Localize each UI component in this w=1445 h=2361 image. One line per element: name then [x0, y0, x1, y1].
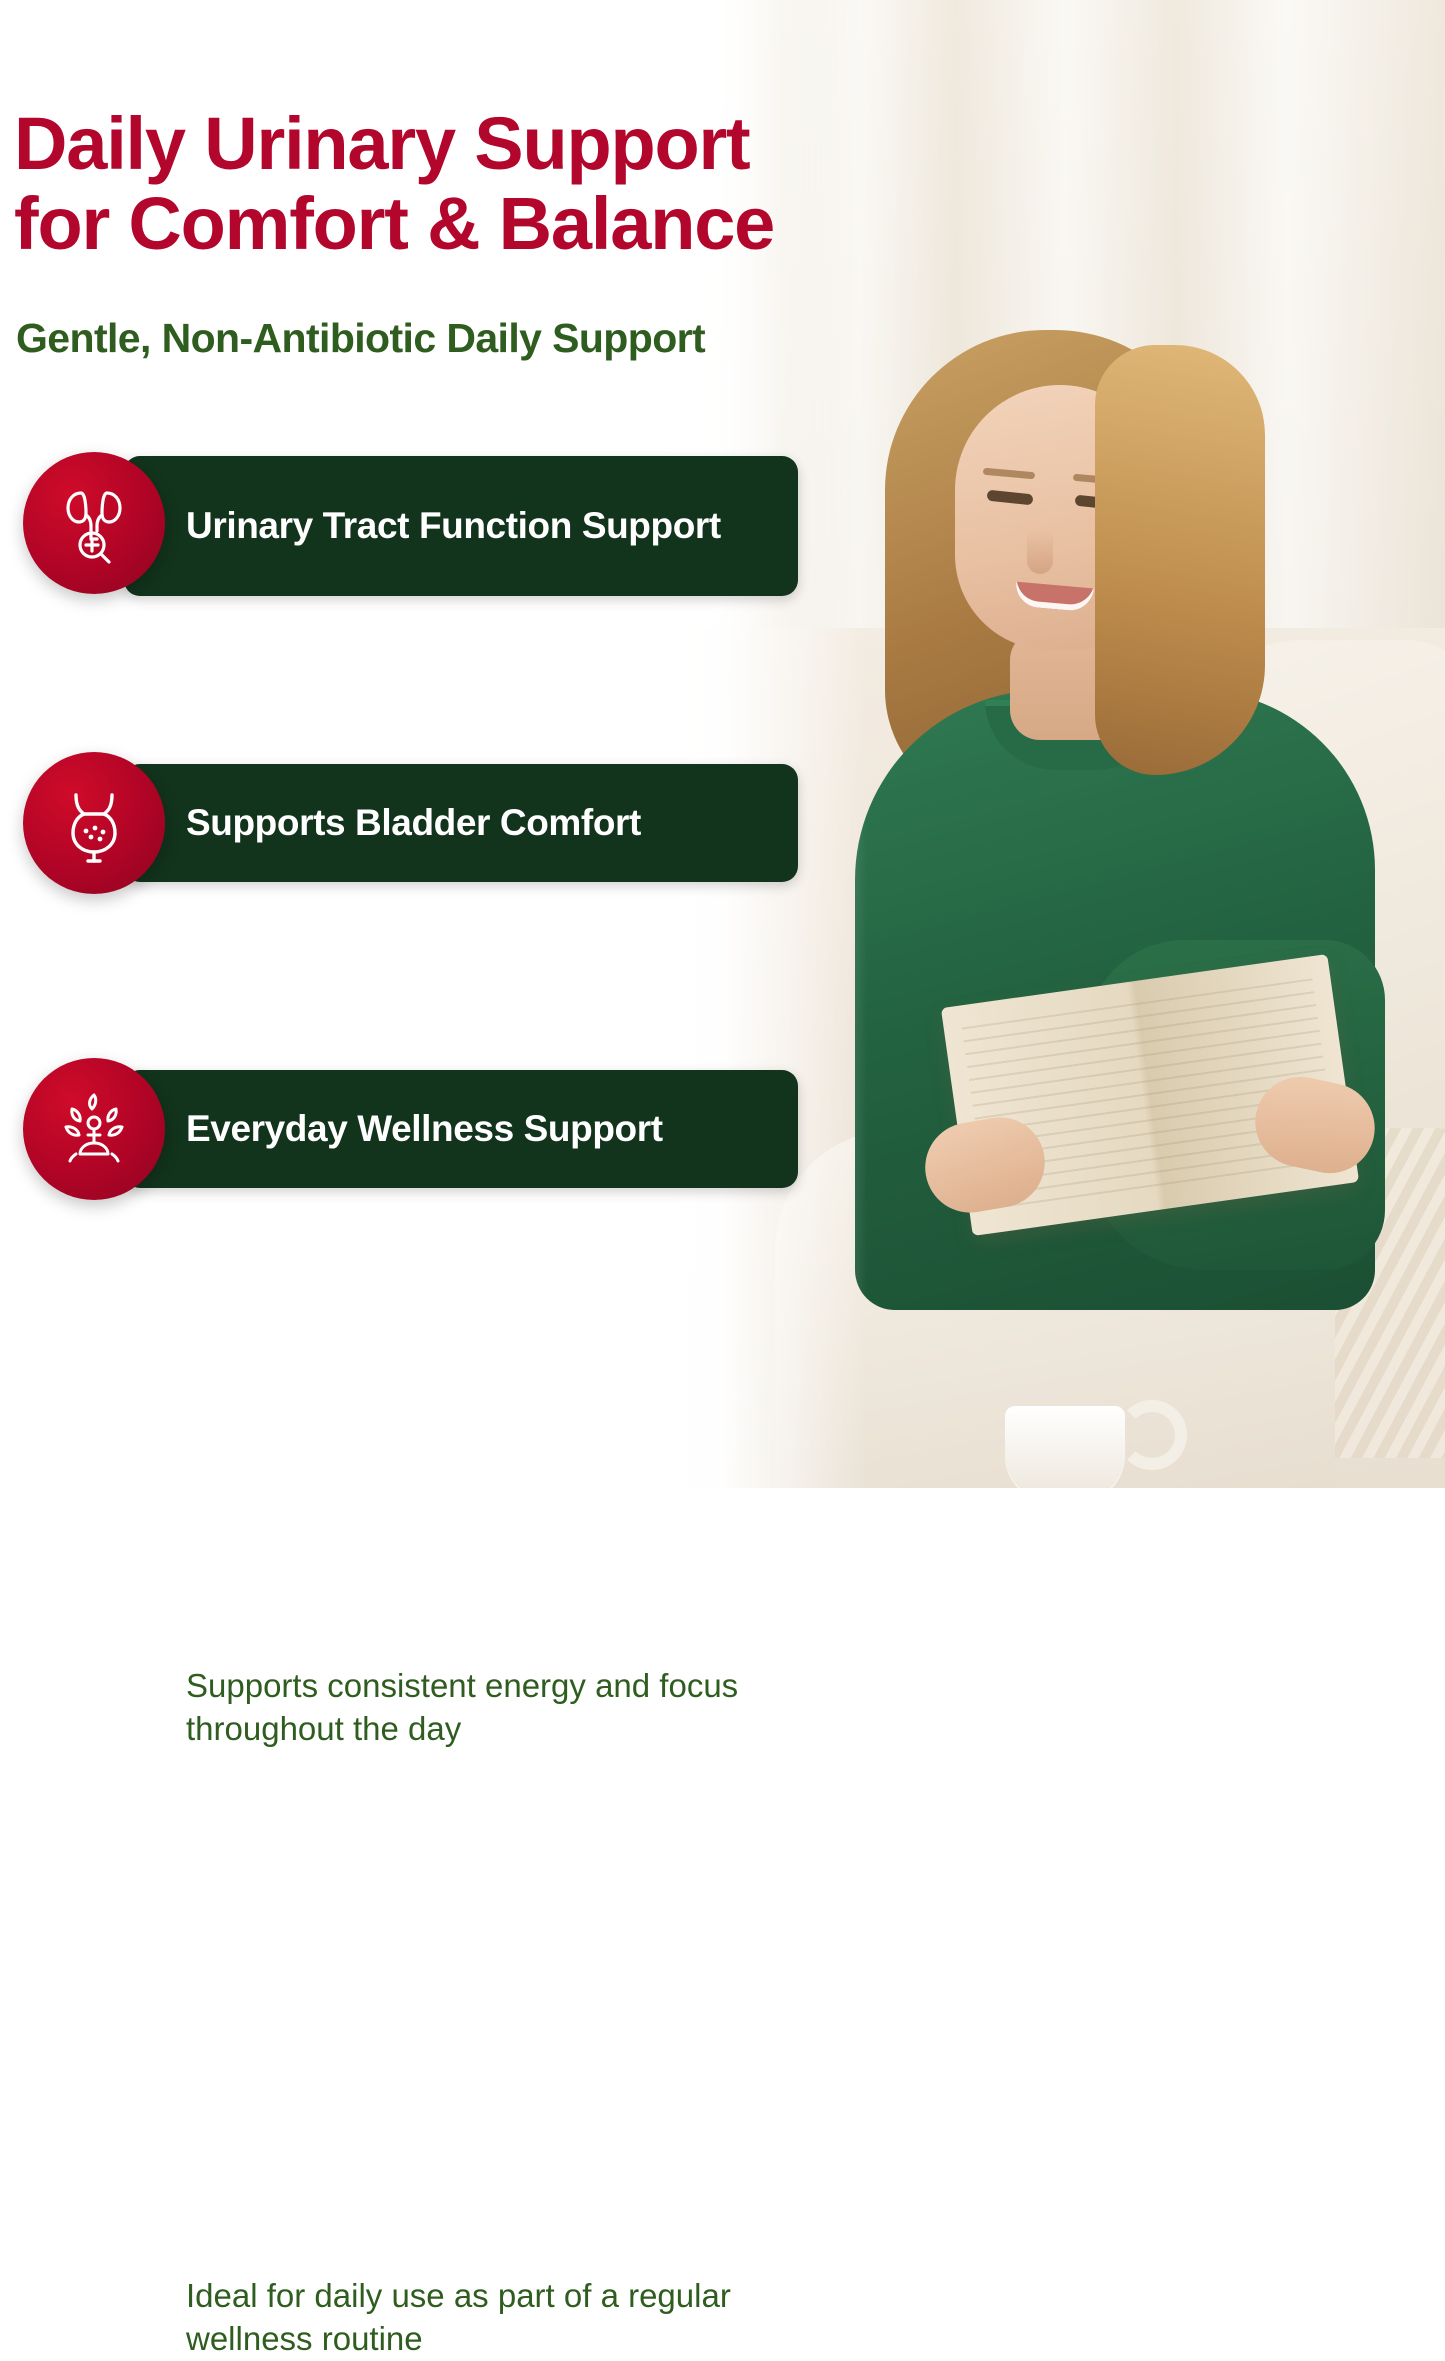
page-title: Daily Urinary Support for Comfort & Bala…	[14, 104, 1094, 264]
bladder-icon	[23, 752, 165, 894]
feature-1-title: Urinary Tract Function Support	[124, 504, 747, 548]
feature-3-title: Everyday Wellness Support	[124, 1107, 689, 1151]
feature-3-pill: Everyday Wellness Support	[124, 1070, 798, 1188]
headline-line-2: for Comfort & Balance	[14, 184, 1094, 264]
page-subtitle: Gentle, Non-Antibiotic Daily Support	[16, 315, 1016, 362]
feature-1-pill: Urinary Tract Function Support	[124, 456, 798, 596]
wellness-person-leaves-icon	[23, 1058, 165, 1200]
feature-2-description: Supports consistent energy and focus thr…	[186, 1665, 826, 1751]
feature-3-description: Ideal for daily use as part of a regular…	[186, 2275, 826, 2361]
feature-2-title: Supports Bladder Comfort	[124, 801, 667, 845]
headline-line-1: Daily Urinary Support	[14, 104, 1094, 184]
kidneys-magnifier-plus-icon	[23, 452, 165, 594]
feature-2-pill: Supports Bladder Comfort	[124, 764, 798, 882]
